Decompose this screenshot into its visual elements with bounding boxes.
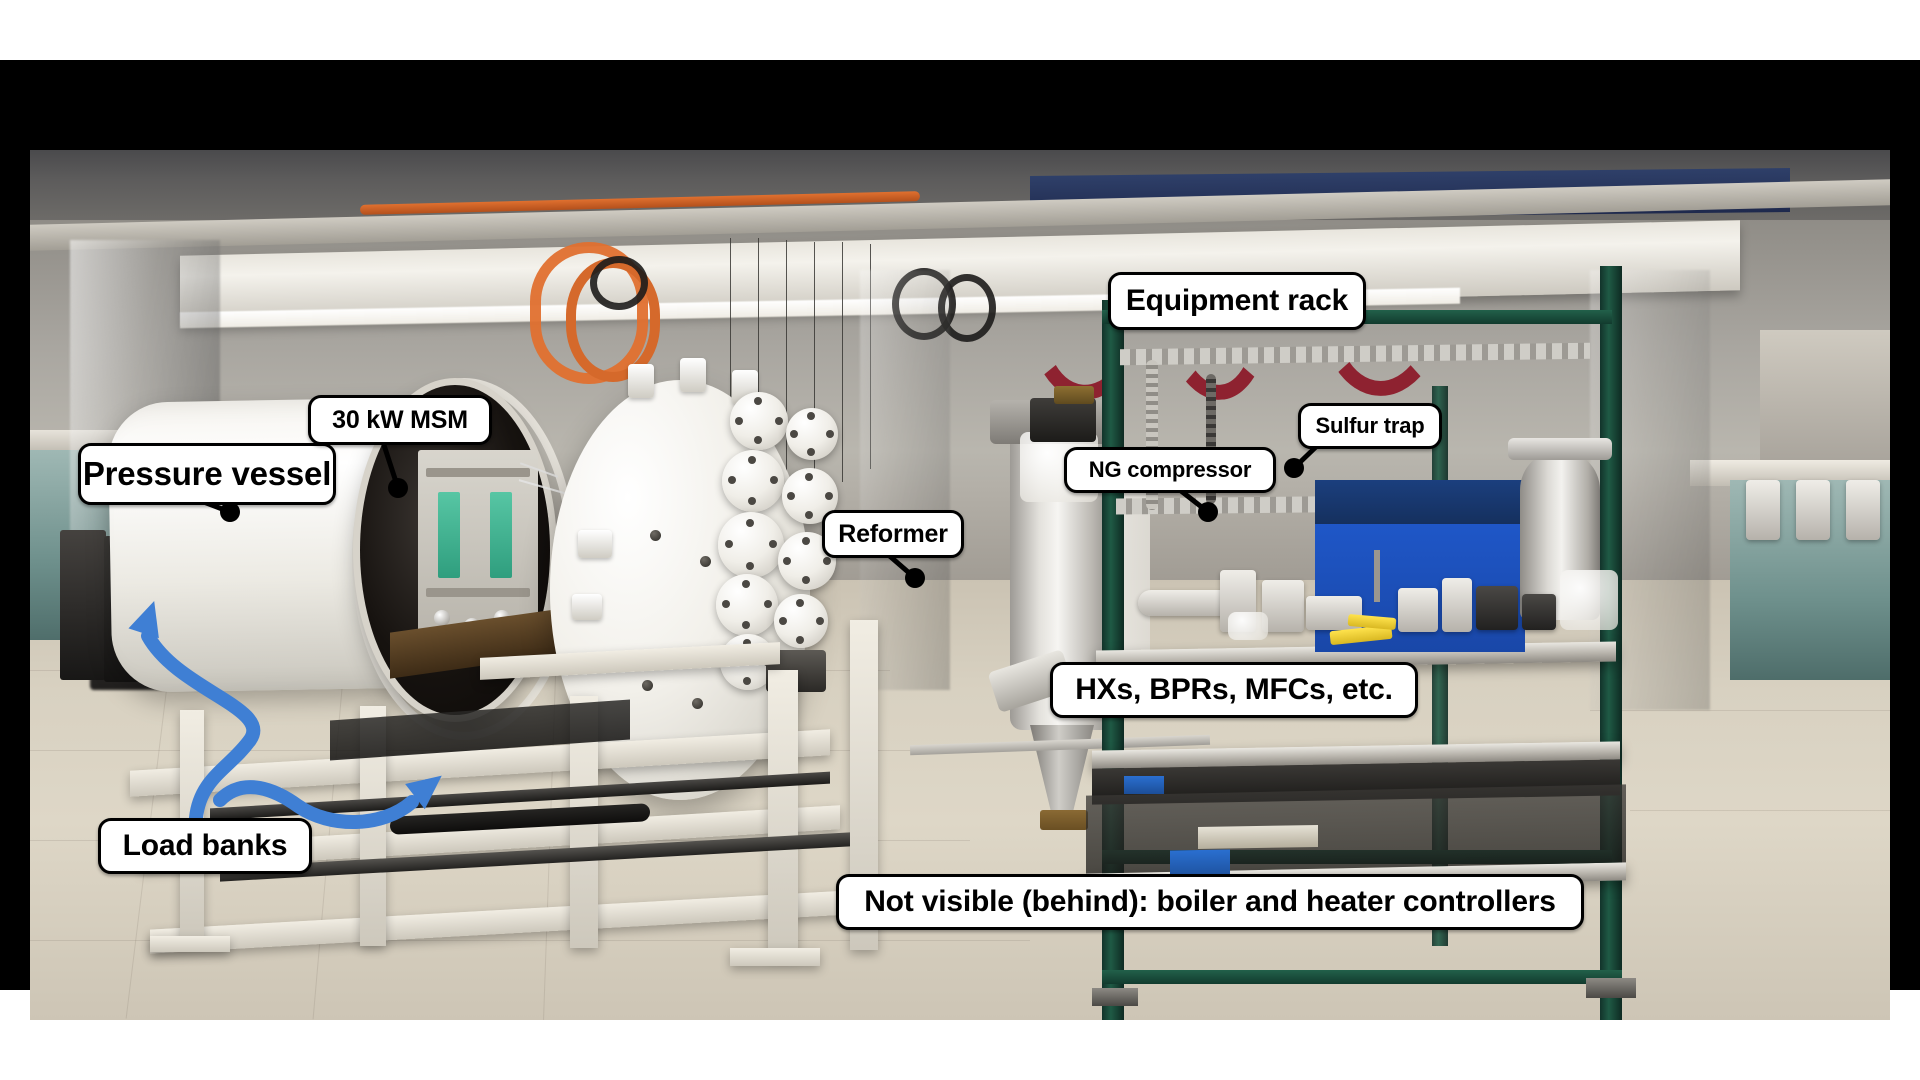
msm-rail (426, 588, 530, 597)
lifting-lug (628, 364, 654, 398)
standpipe (1374, 550, 1380, 602)
callout-load-banks[interactable]: Load banks (98, 818, 312, 874)
skid-foot (150, 936, 230, 952)
nozzle-flange (718, 512, 784, 578)
skid-post (768, 670, 798, 956)
callout-sulfur-trap[interactable]: Sulfur trap (1298, 403, 1442, 449)
head-boss (578, 530, 612, 558)
lifting-lug (680, 358, 706, 392)
black-cable-coil (590, 256, 648, 310)
rack-top-box (1030, 398, 1096, 442)
mfc-body (1262, 580, 1304, 632)
cabinet-drawer (1846, 480, 1880, 540)
actuator-2 (1522, 594, 1556, 630)
lower-shelf-part (1198, 825, 1318, 849)
callout-label: Not visible (behind): boiler and heater … (864, 885, 1556, 919)
blue-block-2 (1124, 776, 1164, 794)
actuator (1476, 586, 1518, 630)
callout-label: Sulfur trap (1315, 413, 1424, 439)
figure-canvas: Pressure vessel 30 kW MSM Equipment rack… (0, 0, 1920, 1080)
callout-hx-bpr-mfc[interactable]: HXs, BPRs, MFCs, etc. (1050, 662, 1418, 718)
floor-line (1630, 810, 1890, 811)
cabinet-drawer (1746, 480, 1780, 540)
rack-foot (1586, 978, 1636, 998)
callout-label: Load banks (123, 829, 288, 863)
msm-connector-card (438, 492, 460, 578)
msm-connector-card (490, 492, 512, 578)
callout-ng-compressor[interactable]: NG compressor (1064, 447, 1276, 493)
nozzle-flange (722, 450, 784, 512)
callout-label: 30 kW MSM (332, 406, 468, 435)
rack-beam-base (1102, 970, 1622, 984)
callout-label: HXs, BPRs, MFCs, etc. (1075, 673, 1393, 707)
callout-reformer[interactable]: Reformer (822, 510, 964, 558)
ng-compressor-panel-top (1315, 480, 1525, 524)
callout-label: Pressure vessel (83, 455, 331, 493)
nozzle-flange (730, 392, 788, 450)
callout-label: Equipment rack (1126, 284, 1348, 318)
reformer-base (1040, 810, 1088, 830)
sulfur-trap-flange (1508, 438, 1612, 460)
bagged-part (1228, 612, 1268, 640)
shelf-right (1760, 330, 1890, 470)
msm-rail (426, 468, 530, 477)
skid-foot (730, 948, 820, 966)
bagged-part (1560, 570, 1618, 630)
head-bolt (692, 698, 703, 709)
callout-not-visible[interactable]: Not visible (behind): boiler and heater … (836, 874, 1584, 930)
rack-foot (1092, 988, 1138, 1006)
callout-msm[interactable]: 30 kW MSM (308, 395, 492, 445)
valve-assembly (1398, 588, 1438, 632)
brass-fitting (1054, 386, 1094, 404)
nozzle-flange (716, 574, 778, 636)
head-bolt (642, 680, 653, 691)
floor-line (1590, 710, 1890, 711)
photograph: Pressure vessel 30 kW MSM Equipment rack… (30, 150, 1890, 1020)
head-bolt (700, 556, 711, 567)
load-bank-unit (60, 530, 106, 680)
callout-label: NG compressor (1089, 457, 1251, 483)
callout-pressure-vessel[interactable]: Pressure vessel (78, 443, 336, 505)
hanging-wire (842, 242, 843, 482)
nozzle-flange (774, 594, 828, 648)
cabinet-drawer (1796, 480, 1830, 540)
head-boss (572, 594, 602, 620)
rack-shelf-shadow (1086, 784, 1626, 873)
head-bolt (650, 530, 661, 541)
nozzle-flange (786, 408, 838, 460)
callout-equipment-rack[interactable]: Equipment rack (1108, 272, 1366, 330)
regulator (1442, 578, 1472, 632)
photo-frame: Pressure vessel 30 kW MSM Equipment rack… (0, 60, 1920, 990)
callout-label: Reformer (838, 520, 948, 549)
